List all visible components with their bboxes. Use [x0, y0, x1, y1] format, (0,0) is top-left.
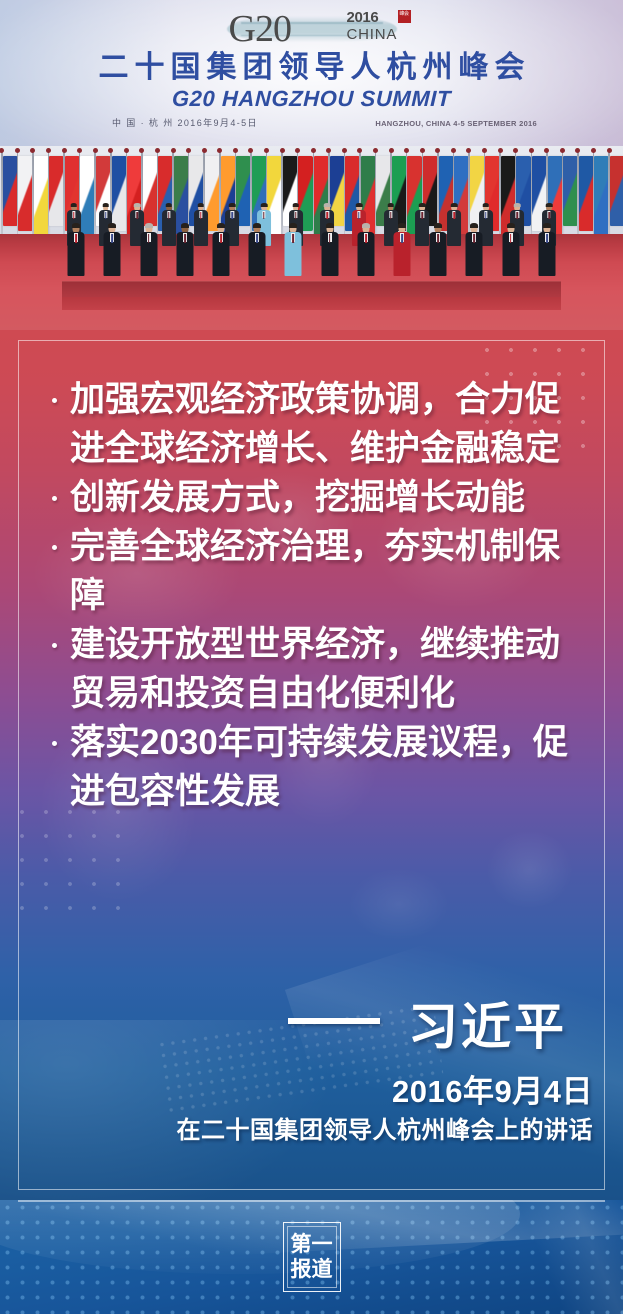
leader-hair: [181, 223, 189, 228]
leader-tie: [548, 212, 549, 219]
flag-finial-icon: [513, 148, 518, 153]
leader-hair: [108, 223, 116, 228]
leader-figure: [428, 224, 448, 276]
flag-finial-icon: [124, 148, 129, 153]
leader-tie: [263, 212, 264, 219]
leader-hair: [451, 203, 458, 207]
leader-tie: [105, 212, 106, 219]
leader-hair: [261, 203, 268, 207]
stage-riser-lower: [62, 297, 561, 310]
leader-figure: [102, 224, 122, 276]
leader-hair: [289, 223, 297, 228]
bullet-list: 加强宏观经济政策协调，合力促进全球经济增长、维护金融稳定创新发展方式，挖掘增长动…: [48, 375, 576, 816]
flag-finial-icon: [46, 148, 51, 153]
national-flag: [563, 156, 578, 226]
flag-finial-icon: [155, 148, 160, 153]
flag-finial-icon: [544, 148, 549, 153]
flag-finial-icon: [248, 148, 253, 153]
flag-finial-icon: [498, 148, 503, 153]
leader-tie: [220, 234, 222, 243]
speech-occasion: 在二十国集团领导人杭州峰会上的讲话: [0, 1116, 623, 1146]
national-flag: [610, 156, 623, 226]
flag-finial-icon: [357, 148, 362, 153]
red-carpet-stage: [0, 234, 623, 330]
footer-band: 第一 报道: [0, 1200, 623, 1314]
flag-finial-icon: [404, 148, 409, 153]
flag-finial-icon: [233, 148, 238, 153]
flag-finial-icon: [171, 148, 176, 153]
leader-hair: [229, 203, 236, 207]
leader-tie: [136, 212, 137, 219]
flag-finial-icon: [77, 148, 82, 153]
national-flag: [34, 156, 49, 236]
leader-tie: [184, 234, 186, 243]
leader-hair: [507, 223, 515, 228]
flag-finial-icon: [389, 148, 394, 153]
leader-figure: [247, 224, 267, 276]
leader-tie: [422, 212, 423, 219]
leader-figure: [211, 224, 231, 276]
g20-logo: G20 2016 CHINA 峰会: [207, 6, 417, 54]
leader-tie: [329, 234, 331, 243]
leader-tie: [327, 212, 328, 219]
leader-hair: [102, 203, 109, 207]
leader-tie: [546, 234, 548, 243]
leader-tie: [517, 212, 518, 219]
footer-diagonal-sheen: [415, 1200, 623, 1314]
leader-hair: [470, 223, 478, 228]
flag-finial-icon: [186, 148, 191, 153]
leader-figure: [537, 224, 557, 276]
national-flag: [579, 156, 594, 231]
leader-figure: [66, 224, 86, 276]
flag-finial-icon: [280, 148, 285, 153]
flag-finial-icon: [217, 148, 222, 153]
leader-hair: [72, 223, 80, 228]
bullet-item: 建设开放型世界经济，继续推动贸易和投资自由化便利化: [48, 620, 576, 718]
leader-hair: [217, 223, 225, 228]
speaker-name: 习近平: [408, 998, 567, 1056]
quote-panel: 加强宏观经济政策协调，合力促进全球经济增长、维护金融稳定创新发展方式，挖掘增长动…: [0, 330, 623, 1200]
flag-finial-icon: [295, 148, 300, 153]
flag-finial-icon: [202, 148, 207, 153]
leader-figure: [392, 224, 412, 276]
bullet-item: 加强宏观经济政策协调，合力促进全球经济增长、维护金融稳定: [48, 375, 576, 473]
leader-tie: [73, 212, 74, 219]
flag-finial-icon: [139, 148, 144, 153]
summit-title-cn: 二十国集团领导人杭州峰会: [0, 50, 623, 86]
flag-finial-icon: [30, 148, 35, 153]
bullet-item: 完善全球经济治理，夯实机制保障: [48, 522, 576, 620]
national-flag: [594, 156, 609, 236]
leader-hair: [362, 223, 370, 228]
flag-finial-icon: [560, 148, 565, 153]
dot-grid-bottom-left: [10, 800, 130, 920]
national-flag: [18, 156, 33, 231]
flag-finial-icon: [607, 148, 612, 153]
leader-tie: [365, 234, 367, 243]
leader-hair: [434, 223, 442, 228]
summit-title-en: G20 HANGZHOU SUMMIT: [0, 86, 623, 112]
leader-hair: [387, 203, 394, 207]
leader-tie: [232, 212, 233, 219]
leader-hair: [253, 223, 261, 228]
leader-tie: [148, 234, 150, 243]
national-flag: [112, 156, 127, 231]
flag-finial-icon: [15, 148, 20, 153]
leader-figure: [501, 224, 521, 276]
flag-finial-icon: [591, 148, 596, 153]
flag-finial-icon: [451, 148, 456, 153]
summit-subtitle-cn: 中 国 · 杭 州 2016年9月4-5日: [112, 117, 258, 129]
flag-finial-icon: [482, 148, 487, 153]
leader-figure: [139, 224, 159, 276]
brand-logo-diyibaodao[interactable]: 第一 报道: [283, 1222, 341, 1292]
leader-hair: [197, 203, 204, 207]
flag-finial-icon: [264, 148, 269, 153]
leader-figure: [175, 224, 195, 276]
leader-hair: [292, 203, 299, 207]
signature-row: 习近平: [0, 998, 623, 1060]
leader-hair: [514, 203, 521, 207]
flag-finial-icon: [420, 148, 425, 153]
seal-stamp-icon: 峰会: [398, 10, 411, 23]
stage-riser-upper: [62, 282, 561, 298]
leader-tie: [358, 212, 359, 219]
leader-figure: [464, 224, 484, 276]
flag-finial-icon: [342, 148, 347, 153]
leader-tie: [474, 234, 476, 243]
flag-finial-icon: [575, 148, 580, 153]
bullet-item: 创新发展方式，挖掘增长动能: [48, 473, 576, 522]
flag-finial-icon: [62, 148, 67, 153]
leader-tie: [401, 234, 403, 243]
leader-hair: [546, 203, 553, 207]
attribution-block: 习近平 2016年9月4日 在二十国集团领导人杭州峰会上的讲话: [0, 998, 623, 1146]
leader-hair: [166, 203, 173, 207]
g20-logo-year: 2016: [347, 10, 398, 26]
g20-logo-mark: G20: [229, 7, 291, 51]
flag-finial-icon: [326, 148, 331, 153]
leader-tie: [510, 234, 512, 243]
leader-tie: [295, 212, 296, 219]
leader-hair: [134, 203, 141, 207]
summit-subtitle-en: HANGZHOU, CHINA 4-5 SEPTEMBER 2016: [375, 118, 537, 129]
poster-root: G20 2016 CHINA 峰会 二十国集团领导人杭州峰会 G20 HANGZ…: [0, 0, 623, 1314]
leader-figure: [192, 204, 208, 247]
leader-figure: [356, 224, 376, 276]
speech-date: 2016年9月4日: [0, 1074, 623, 1110]
leaders-family-photo: [0, 146, 623, 330]
leader-tie: [75, 234, 77, 243]
leader-tie: [453, 212, 454, 219]
leader-hair: [543, 223, 551, 228]
summit-header-backdrop: G20 2016 CHINA 峰会 二十国集团领导人杭州峰会 G20 HANGZ…: [0, 0, 623, 146]
leader-hair: [71, 203, 78, 207]
flag-finial-icon: [435, 148, 440, 153]
brand-logo-inner-border: 第一 报道: [287, 1226, 337, 1288]
leader-tie: [390, 212, 391, 219]
bullet-item: 落实2030年可持续发展议程，促进包容性发展: [48, 718, 576, 816]
leader-tie: [168, 212, 169, 219]
leader-hair: [324, 203, 331, 207]
leader-tie: [111, 234, 113, 243]
brand-line-2: 报道: [291, 1257, 333, 1282]
national-flag: [49, 156, 64, 226]
flag-finial-icon: [108, 148, 113, 153]
leader-figure: [446, 204, 462, 247]
flag-finial-icon: [0, 148, 4, 153]
flag-finial-icon: [373, 148, 378, 153]
leader-figure: [320, 224, 340, 276]
leader-hair: [419, 203, 426, 207]
flag-finial-icon: [93, 148, 98, 153]
footer-top-rule: [18, 1200, 605, 1202]
leader-tie: [292, 234, 294, 243]
leader-tie: [256, 234, 258, 243]
leader-hair: [398, 223, 406, 228]
leader-tie: [437, 234, 439, 243]
flag-finial-icon: [529, 148, 534, 153]
leader-tie: [485, 212, 486, 219]
em-dash-rule: [288, 1018, 380, 1024]
leader-hair: [356, 203, 363, 207]
leader-hair: [326, 223, 334, 228]
flag-row: [0, 148, 623, 244]
leader-hair: [145, 223, 153, 228]
brand-line-1: 第一: [291, 1232, 333, 1257]
flag-finial-icon: [311, 148, 316, 153]
g20-logo-country: CHINA: [347, 26, 398, 43]
flag-finial-icon: [466, 148, 471, 153]
g20-logo-side: 2016 CHINA: [347, 10, 398, 43]
leader-figure: [283, 224, 303, 276]
leader-tie: [200, 212, 201, 219]
national-flag: [3, 156, 18, 226]
leader-hair: [482, 203, 489, 207]
